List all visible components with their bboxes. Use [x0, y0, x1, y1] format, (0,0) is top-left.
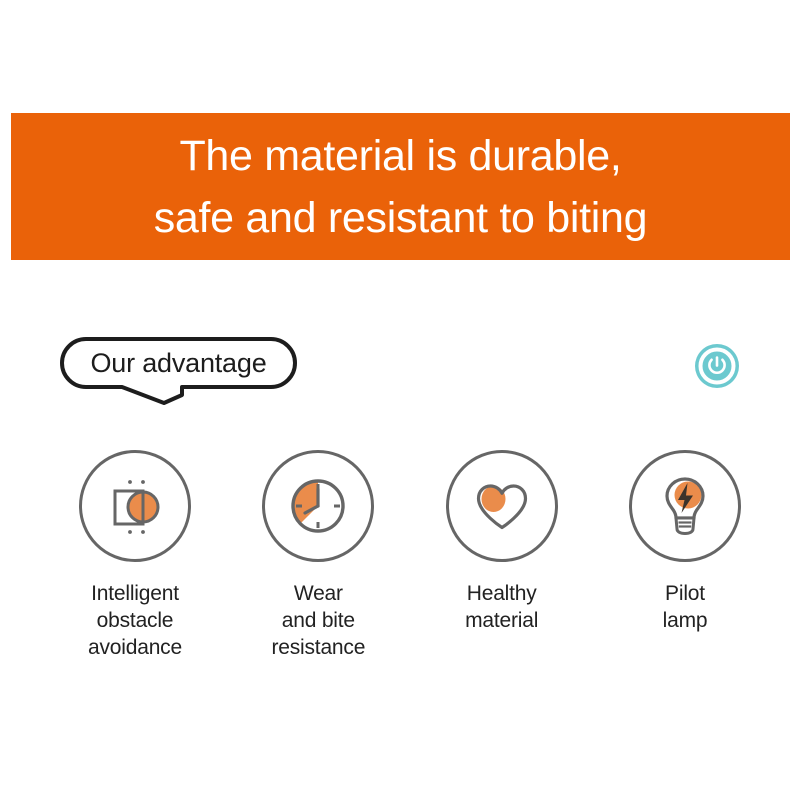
feature-caption-line-1: Wear: [271, 580, 365, 607]
our-advantage-speech-bubble: Our advantage: [60, 337, 305, 409]
feature-icon-ring: [629, 450, 741, 562]
hero-headline-line-1: The material is durable,: [179, 125, 621, 187]
power-button-icon[interactable]: [694, 343, 740, 389]
feature-caption-line-2: material: [465, 607, 538, 634]
feature-item-obstacle-avoidance[interactable]: Intelligent obstacle avoidance: [60, 450, 210, 661]
heart-healthy-material-icon: [469, 475, 535, 537]
feature-caption-line-1: Intelligent: [88, 580, 182, 607]
feature-caption-line-2: and bite: [271, 607, 365, 634]
our-advantage-label: Our advantage: [60, 337, 297, 389]
hero-headline-line-2: safe and resistant to biting: [154, 187, 648, 249]
feature-list: Intelligent obstacle avoidance: [60, 450, 760, 661]
feature-caption-line-3: avoidance: [88, 634, 182, 661]
feature-item-wear-resistance[interactable]: Wear and bite resistance: [243, 450, 393, 661]
feature-caption-line-1: Pilot: [663, 580, 708, 607]
feature-item-healthy-material[interactable]: Healthy material: [427, 450, 577, 661]
hero-banner: The material is durable, safe and resist…: [11, 113, 790, 260]
feature-caption: Healthy material: [465, 580, 538, 634]
power-indicator[interactable]: [694, 343, 740, 389]
feature-caption-line-1: Healthy: [465, 580, 538, 607]
feature-caption: Wear and bite resistance: [271, 580, 365, 661]
feature-caption-line-2: lamp: [663, 607, 708, 634]
lightbulb-pilot-lamp-icon: [654, 471, 716, 541]
feature-caption: Intelligent obstacle avoidance: [88, 580, 182, 661]
feature-caption: Pilot lamp: [663, 580, 708, 634]
feature-caption-line-3: resistance: [271, 634, 365, 661]
feature-icon-ring: [446, 450, 558, 562]
feature-caption-line-2: obstacle: [88, 607, 182, 634]
feature-item-pilot-lamp[interactable]: Pilot lamp: [610, 450, 760, 661]
obstacle-avoidance-icon: [98, 469, 172, 543]
feature-icon-ring: [262, 450, 374, 562]
feature-icon-ring: [79, 450, 191, 562]
clock-wear-resistance-icon: [285, 473, 351, 539]
